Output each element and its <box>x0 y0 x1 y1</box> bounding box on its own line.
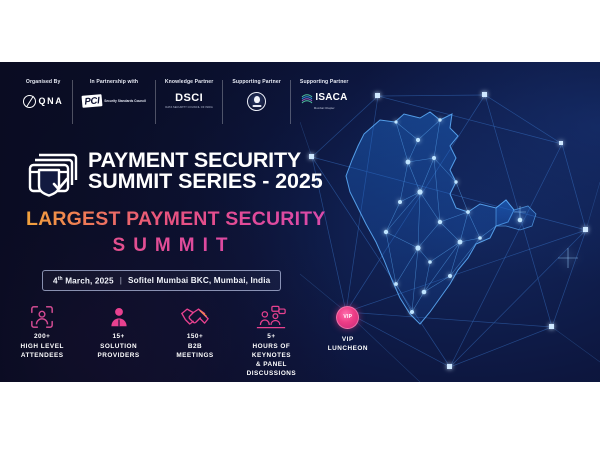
stat-high-level-attendees: 200+ HIGH LEVEL ATTENDEES <box>4 304 80 360</box>
dsci-wordmark: DSCI <box>175 93 203 104</box>
partner-in-partnership-with: In Partnership with PCI Security Standar… <box>72 80 155 124</box>
dsci-sublabel: DATA SECURITY COUNCIL OF INDIA <box>165 106 212 109</box>
vip-badge-icon: VIP <box>336 304 359 330</box>
isaca-sublabel: Mumbai Chapter <box>314 106 335 110</box>
partner-caption: Knowledge Partner <box>165 80 213 85</box>
stats-row: 200+ HIGH LEVEL ATTENDEES 15+ SOLUTION P… <box>4 304 386 366</box>
subtitle-line-2: SUMMIT <box>26 235 356 257</box>
dsci-logo: DSCI DATA SECURITY COUNCIL OF INDIA <box>165 90 212 112</box>
emblem-seal-icon <box>247 92 266 111</box>
screenshot-root: Organised By QNA In Partnership with PCI… <box>0 0 600 450</box>
subtitle-line-1: LARGEST PAYMENT SECURITY <box>26 208 356 231</box>
stat-number: 15+ <box>112 333 124 340</box>
event-date: 4th March, 2025 <box>53 276 114 286</box>
pci-logo: PCI Security Standards Council <box>82 90 146 112</box>
stat-solution-providers: 15+ SOLUTION PROVIDERS <box>80 304 156 360</box>
stat-b2b-meetings: 150+ B2B MEETINGS <box>157 304 233 360</box>
stat-label: SOLUTION PROVIDERS <box>98 342 140 361</box>
event-venue: Sofitel Mumbai BKC, Mumbai, India <box>128 276 270 285</box>
stat-label: B2B MEETINGS <box>176 342 213 361</box>
seal-logo <box>247 90 266 112</box>
stat-label: VIP LUNCHEON <box>328 335 368 354</box>
isaca-mesh-icon <box>301 92 313 104</box>
partner-supporting-partner-2: Supporting Partner <box>290 80 358 124</box>
separator: | <box>120 276 122 285</box>
title-block: PAYMENT SECURITY SUMMIT SERIES - 2025 LA… <box>26 146 356 257</box>
isaca-wordmark: ISACA <box>315 93 347 103</box>
title-line-1: PAYMENT SECURITY <box>88 150 323 172</box>
pci-wordmark: PCI <box>82 94 103 108</box>
qna-logo: QNA <box>23 90 63 112</box>
partner-organised-by: Organised By QNA <box>14 80 72 124</box>
stat-label: HOURS OF KEYNOTES & PANEL DISCUSSIONS <box>233 342 309 379</box>
partner-caption: Organised By <box>26 80 61 85</box>
partner-caption: Supporting Partner <box>232 80 281 85</box>
subtitle-block: LARGEST PAYMENT SECURITY SUMMIT <box>26 208 356 257</box>
stat-number: 200+ <box>34 333 50 340</box>
vip-badge-text: VIP <box>336 306 359 329</box>
stat-vip-luncheon: VIP VIP LUNCHEON <box>310 304 386 353</box>
isaca-logo: ISACA Mumbai Chapter <box>301 90 348 112</box>
event-banner: Organised By QNA In Partnership with PCI… <box>0 62 600 382</box>
panel-discussion-icon <box>256 304 286 330</box>
attendee-scan-icon <box>30 304 54 330</box>
title-line-2: SUMMIT SERIES - 2025 <box>88 171 323 193</box>
solution-person-icon <box>108 304 130 330</box>
stat-number: 150+ <box>187 333 203 340</box>
handshake-icon <box>181 304 209 330</box>
event-date-venue-bar: 4th March, 2025 | Sofitel Mumbai BKC, Mu… <box>42 270 281 291</box>
payment-security-shield-logo <box>26 146 80 196</box>
qna-monogram-icon <box>23 95 36 108</box>
stat-number: 5+ <box>267 333 275 340</box>
stat-label: HIGH LEVEL ATTENDEES <box>21 342 64 361</box>
partner-knowledge-partner: Knowledge Partner DSCI DATA SECURITY COU… <box>155 80 222 124</box>
partner-strip: Organised By QNA In Partnership with PCI… <box>14 80 414 124</box>
pci-sublabel: Security Standards Council <box>104 99 146 103</box>
partner-supporting-partner-1: Supporting Partner <box>222 80 290 124</box>
qna-wordmark: QNA <box>39 97 64 106</box>
india-northeast-region <box>496 200 536 230</box>
stat-hours-of-keynotes: 5+ HOURS OF KEYNOTES & PANEL DISCUSSIONS <box>233 304 309 379</box>
partner-caption: In Partnership with <box>90 80 138 85</box>
india-outline <box>346 112 514 324</box>
partner-caption: Supporting Partner <box>300 80 349 85</box>
